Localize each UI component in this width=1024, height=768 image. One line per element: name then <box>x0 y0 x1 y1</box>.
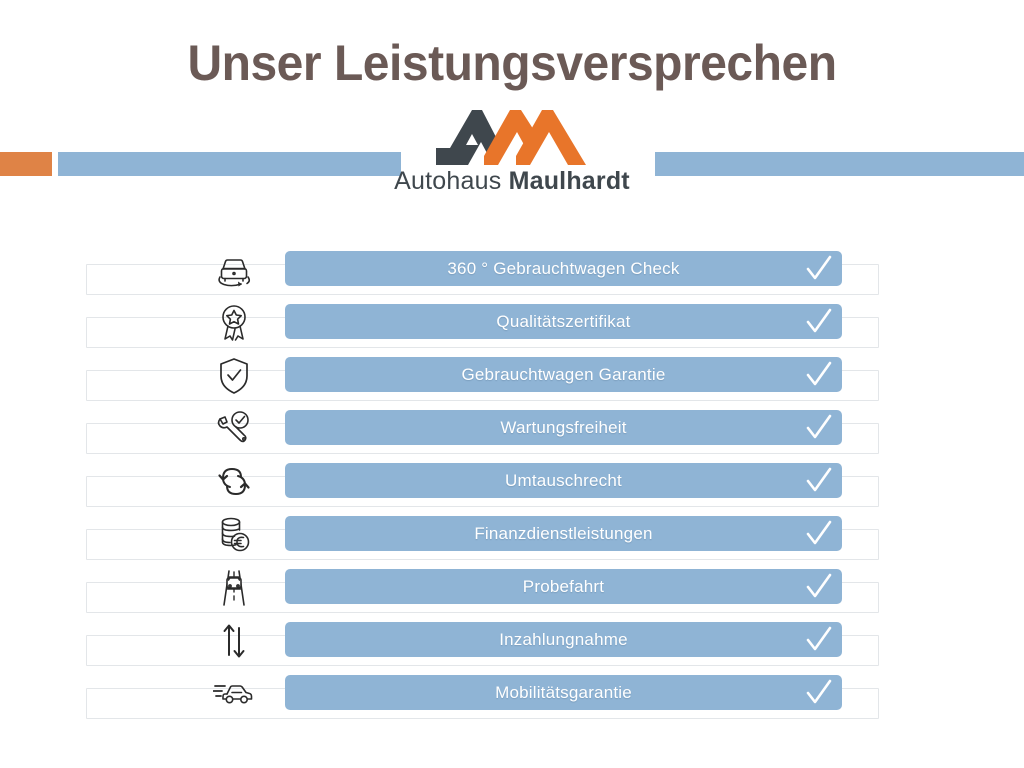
checkmark-icon <box>804 519 834 549</box>
promise-pill[interactable]: Umtauschrecht <box>285 463 842 498</box>
promise-pill[interactable]: Finanzdienstleistungen <box>285 516 842 551</box>
promise-label: Mobilitätsgarantie <box>285 675 842 710</box>
promise-pill[interactable]: Qualitätszertifikat <box>285 304 842 339</box>
checkmark-icon <box>804 413 834 443</box>
brand-wordmark: Autohaus Maulhardt <box>0 169 1024 194</box>
checkmark-icon <box>804 307 834 337</box>
brand-wordmark-light: Autohaus <box>394 167 501 195</box>
promise-row[interactable]: Wartungsfreiheit <box>0 399 1024 452</box>
promise-row[interactable]: Probefahrt <box>0 558 1024 611</box>
promise-row[interactable]: Mobilitätsgarantie <box>0 664 1024 717</box>
checkmark-icon <box>804 360 834 390</box>
promise-label: Probefahrt <box>285 569 842 604</box>
promise-label: Inzahlungnahme <box>285 622 842 657</box>
promise-row[interactable]: 360 ° Gebrauchtwagen Check <box>0 240 1024 293</box>
checkmark-icon <box>804 254 834 284</box>
promise-label: Qualitätszertifikat <box>285 304 842 339</box>
promise-label: Finanzdienstleistungen <box>285 516 842 551</box>
brand-logo: Autohaus Maulhardt <box>0 108 1024 194</box>
promise-pill[interactable]: Probefahrt <box>285 569 842 604</box>
promise-pill[interactable]: 360 ° Gebrauchtwagen Check <box>285 251 842 286</box>
car-road-icon <box>205 566 263 610</box>
promise-pill[interactable]: Mobilitätsgarantie <box>285 675 842 710</box>
page-title: Unser Leistungsversprechen <box>20 34 1003 92</box>
promise-list: 360 ° Gebrauchtwagen Check Qualitätszert… <box>0 240 1024 717</box>
checkmark-icon <box>804 625 834 655</box>
promise-row[interactable]: Finanzdienstleistungen <box>0 505 1024 558</box>
wrench-check-icon <box>205 407 263 451</box>
coins-euro-icon <box>205 513 263 557</box>
exchange-arrows-icon <box>205 460 263 504</box>
promise-row[interactable]: Inzahlungnahme <box>0 611 1024 664</box>
up-down-arrows-icon <box>205 619 263 663</box>
brand-wordmark-bold: Maulhardt <box>509 167 630 195</box>
shield-check-icon <box>205 354 263 398</box>
promise-label: Gebrauchtwagen Garantie <box>285 357 842 392</box>
promise-row[interactable]: Qualitätszertifikat <box>0 293 1024 346</box>
promise-label: 360 ° Gebrauchtwagen Check <box>285 251 842 286</box>
promise-pill[interactable]: Inzahlungnahme <box>285 622 842 657</box>
checkmark-icon <box>804 572 834 602</box>
promise-label: Wartungsfreiheit <box>285 410 842 445</box>
promise-row[interactable]: Umtauschrecht <box>0 452 1024 505</box>
am-monogram-logo-icon <box>436 108 588 166</box>
award-medal-icon <box>205 301 263 345</box>
checkmark-icon <box>804 466 834 496</box>
promise-pill[interactable]: Gebrauchtwagen Garantie <box>285 357 842 392</box>
promise-label: Umtauschrecht <box>285 463 842 498</box>
car-360-check-icon <box>205 248 263 292</box>
promise-row[interactable]: Gebrauchtwagen Garantie <box>0 346 1024 399</box>
car-moving-icon <box>205 672 263 716</box>
promise-pill[interactable]: Wartungsfreiheit <box>285 410 842 445</box>
checkmark-icon <box>804 678 834 708</box>
